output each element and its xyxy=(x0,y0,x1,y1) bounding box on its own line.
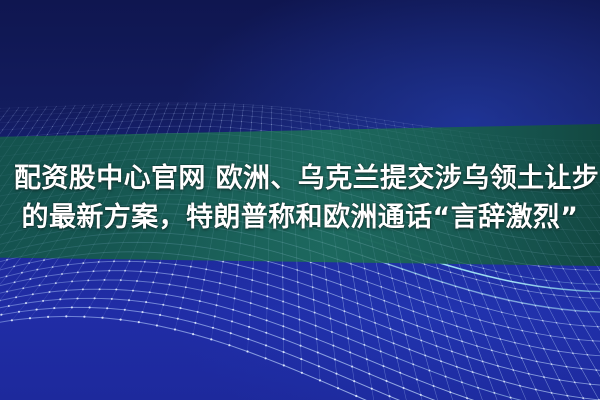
headline: 配资股中心官网 欧洲、乌克兰提交涉乌领土让步 的最新方案，特朗普称和欧洲通话“言… xyxy=(0,160,600,237)
headline-line-1: 配资股中心官网 欧洲、乌克兰提交涉乌领土让步 xyxy=(14,160,586,198)
news-banner: 配资股中心官网 欧洲、乌克兰提交涉乌领土让步 的最新方案，特朗普称和欧洲通话“言… xyxy=(0,0,600,400)
headline-line-2: 的最新方案，特朗普称和欧洲通话“言辞激烈” xyxy=(14,199,586,237)
